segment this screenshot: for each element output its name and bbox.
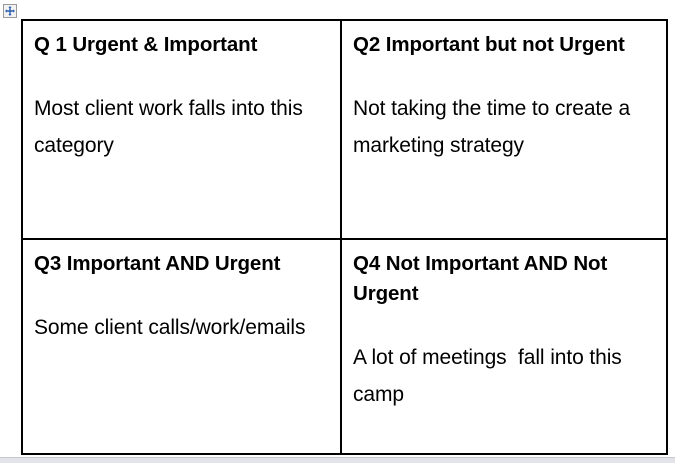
quadrant-cell-q2[interactable]: Q2 Important but not Urgent Not taking t… xyxy=(341,20,667,239)
document-canvas: Q 1 Urgent & Important Most client work … xyxy=(0,0,675,457)
quadrant-cell-q4[interactable]: Q4 Not Important AND Not Urgent A lot of… xyxy=(341,239,667,454)
quadrant-body-q2: Not taking the time to create a marketin… xyxy=(353,90,656,164)
quadrant-body-q1: Most client work falls into this categor… xyxy=(34,90,330,164)
quadrant-spacer xyxy=(34,60,330,90)
quadrant-cell-q3[interactable]: Q3 Important AND Urgent Some client call… xyxy=(22,239,341,454)
quadrant-heading-q4: Q4 Not Important AND Not Urgent xyxy=(353,249,656,309)
table-move-handle[interactable] xyxy=(3,4,17,18)
quadrant-body-q4: A lot of meetings fall into this camp xyxy=(353,339,656,413)
quadrant-spacer xyxy=(353,60,656,90)
table-row: Q3 Important AND Urgent Some client call… xyxy=(22,239,667,454)
quadrant-spacer xyxy=(353,309,656,339)
quadrant-heading-q1: Q 1 Urgent & Important xyxy=(34,30,330,60)
window-bottom-band xyxy=(0,457,675,463)
quadrant-spacer xyxy=(34,279,330,309)
move-four-arrows-icon xyxy=(5,6,15,16)
eisenhower-matrix-table[interactable]: Q 1 Urgent & Important Most client work … xyxy=(21,19,668,455)
quadrant-cell-q1[interactable]: Q 1 Urgent & Important Most client work … xyxy=(22,20,341,239)
quadrant-heading-q2: Q2 Important but not Urgent xyxy=(353,30,656,60)
quadrant-body-q3: Some client calls/work/emails xyxy=(34,309,330,346)
table-row: Q 1 Urgent & Important Most client work … xyxy=(22,20,667,239)
quadrant-heading-q3: Q3 Important AND Urgent xyxy=(34,249,330,279)
